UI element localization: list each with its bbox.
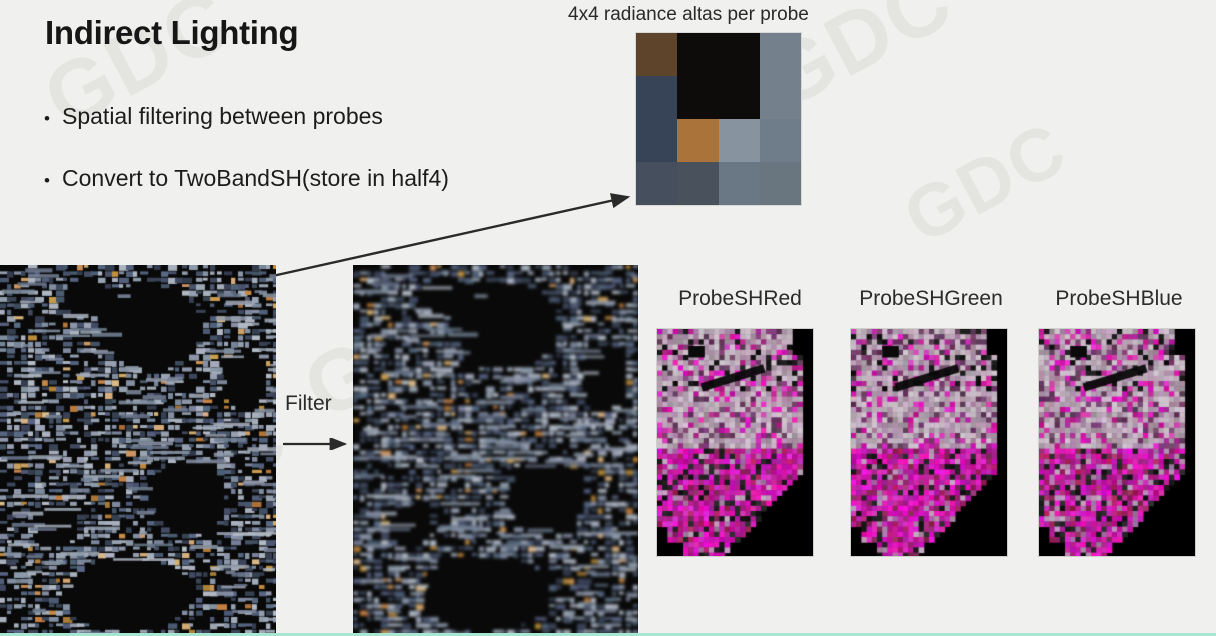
bullet-marker-icon: • — [44, 172, 62, 189]
atlas-cell — [760, 33, 801, 76]
atlas-cell — [719, 76, 760, 119]
atlas-cell — [636, 33, 677, 76]
atlas-cell — [719, 162, 760, 205]
probe-grid-filtered-canvas — [353, 265, 638, 636]
bullet-item: • Spatial filtering between probes — [44, 103, 383, 130]
atlas-cell — [677, 33, 718, 76]
sh-panel-label-red: ProbeSHRed — [657, 287, 823, 311]
atlas-cell — [760, 162, 801, 205]
atlas-cell — [760, 76, 801, 119]
atlas-cell — [636, 162, 677, 205]
sh-panel-blue — [1039, 329, 1195, 556]
sh-panel-label-blue: ProbeSHBlue — [1036, 287, 1202, 311]
probe-grid-unfiltered-image — [0, 265, 276, 636]
sh-panel-green — [851, 329, 1007, 556]
bullet-item: • Convert to TwoBandSH(store in half4) — [44, 165, 449, 192]
atlas-cell — [677, 119, 718, 162]
atlas-cell — [760, 119, 801, 162]
bullet-text: Convert to TwoBandSH(store in half4) — [62, 165, 449, 192]
sh-panel-label-green: ProbeSHGreen — [848, 287, 1014, 311]
sh-blue-canvas — [1039, 329, 1195, 556]
atlas-cell — [719, 119, 760, 162]
sh-green-canvas — [851, 329, 1007, 556]
bullet-text: Spatial filtering between probes — [62, 103, 383, 130]
atlas-cell — [636, 76, 677, 119]
filter-label: Filter — [285, 392, 332, 416]
atlas-caption: 4x4 radiance altas per probe — [568, 4, 809, 26]
sh-red-canvas — [657, 329, 813, 556]
probe-grid-unfiltered-canvas — [0, 265, 276, 636]
presentation-slide: GDC GDC GDC GDC GDC Indirect Lighting • … — [0, 0, 1216, 636]
probe-grid-filtered-image — [353, 265, 638, 636]
atlas-cell — [636, 119, 677, 162]
slide-title: Indirect Lighting — [45, 14, 298, 52]
radiance-atlas-grid — [636, 33, 801, 205]
sh-panel-red — [657, 329, 813, 556]
atlas-cell — [719, 33, 760, 76]
atlas-cell — [677, 76, 718, 119]
filter-arrow-icon — [283, 438, 355, 450]
bullet-marker-icon: • — [44, 110, 62, 127]
watermark-gdc: GDC — [890, 105, 1080, 260]
atlas-cell — [677, 162, 718, 205]
